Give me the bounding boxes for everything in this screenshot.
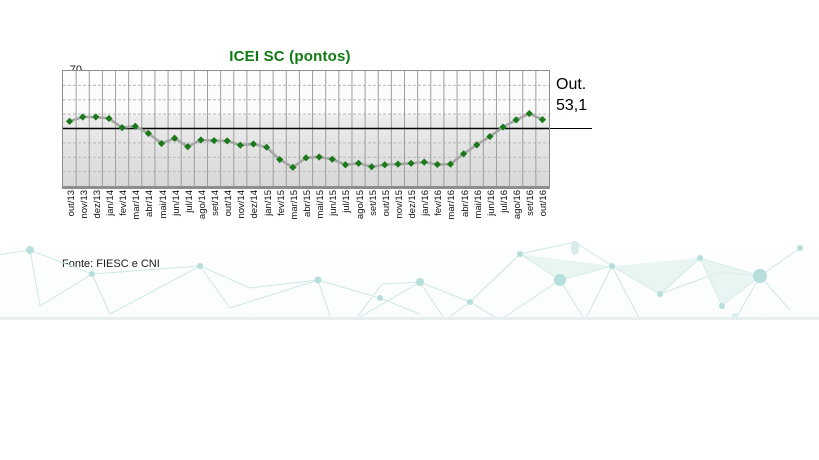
callout-label: Out. xyxy=(556,74,587,95)
x-axis-tick-jan-14: jan/14 xyxy=(105,190,116,216)
x-axis-tick-mai-15: mai/15 xyxy=(315,190,326,219)
x-axis-tick-mai-14: mai/14 xyxy=(158,190,169,219)
x-axis-tick-out-13: out/13 xyxy=(66,190,77,216)
x-axis-tick-nov-13: nov/13 xyxy=(79,190,90,219)
x-axis-tick-fev-16: fev/16 xyxy=(433,190,444,216)
x-axis-tick-abr-15: abr/15 xyxy=(302,190,313,217)
x-axis-tick-jun-14: jun/14 xyxy=(171,190,182,216)
x-axis-tick-jun-16: jun/16 xyxy=(486,190,497,216)
x-axis-tick-out-16: out/16 xyxy=(538,190,549,216)
last-value-callout: Out. 53,1 xyxy=(556,74,587,116)
reference-line-extension xyxy=(550,128,592,129)
x-axis-tick-abr-14: abr/14 xyxy=(144,190,155,217)
callout-value: 53,1 xyxy=(556,95,587,116)
x-axis-tick-nov-15: nov/15 xyxy=(394,190,405,219)
x-axis-tick-dez-15: dez/15 xyxy=(407,190,418,219)
x-axis-tick-mar-14: mar/14 xyxy=(131,190,142,220)
x-axis-tick-jun-15: jun/15 xyxy=(328,190,339,216)
x-axis-tick-jul-14: jul/14 xyxy=(184,190,195,213)
x-axis-tick-jan-15: jan/15 xyxy=(263,190,274,216)
x-axis-baseline xyxy=(62,187,550,189)
series-canvas xyxy=(63,71,549,186)
x-axis-tick-mai-16: mai/16 xyxy=(473,190,484,219)
slide-canvas: ICEI SC (pontos) 706560555045403530 out/… xyxy=(0,0,819,320)
x-axis-tick-out-14: out/14 xyxy=(223,190,234,216)
x-axis-tick-out-15: out/15 xyxy=(381,190,392,216)
x-axis-tick-set-16: set/16 xyxy=(525,190,536,216)
plot-area xyxy=(62,70,550,187)
x-axis-tick-set-15: set/15 xyxy=(368,190,379,216)
slide-bottom-rule xyxy=(0,317,819,320)
x-axis-tick-abr-16: abr/16 xyxy=(460,190,471,217)
chart-title: ICEI SC (pontos) xyxy=(140,48,440,65)
x-axis-tick-nov-14: nov/14 xyxy=(236,190,247,219)
x-axis-tick-ago-16: ago/16 xyxy=(512,190,523,219)
x-axis-tick-jul-15: jul/15 xyxy=(341,190,352,213)
x-axis-tick-ago-15: ago/15 xyxy=(355,190,366,219)
x-axis-tick-dez-13: dez/13 xyxy=(92,190,103,219)
x-axis-tick-mar-16: mar/16 xyxy=(446,190,457,220)
decorative-network-graphic xyxy=(0,236,819,320)
x-axis-tick-fev-15: fev/15 xyxy=(276,190,287,216)
x-axis-tick-set-14: set/14 xyxy=(210,190,221,216)
x-axis-tick-dez-14: dez/14 xyxy=(249,190,260,219)
x-axis-tick-jan-16: jan/16 xyxy=(420,190,431,216)
x-axis-tick-ago-14: ago/14 xyxy=(197,190,208,219)
x-axis-tick-jul-16: jul/16 xyxy=(499,190,510,213)
x-axis-tick-fev-14: fev/14 xyxy=(118,190,129,216)
x-axis-tick-mar-15: mar/15 xyxy=(289,190,300,220)
plot-area-wrapper: 706560555045403530 xyxy=(40,70,550,195)
